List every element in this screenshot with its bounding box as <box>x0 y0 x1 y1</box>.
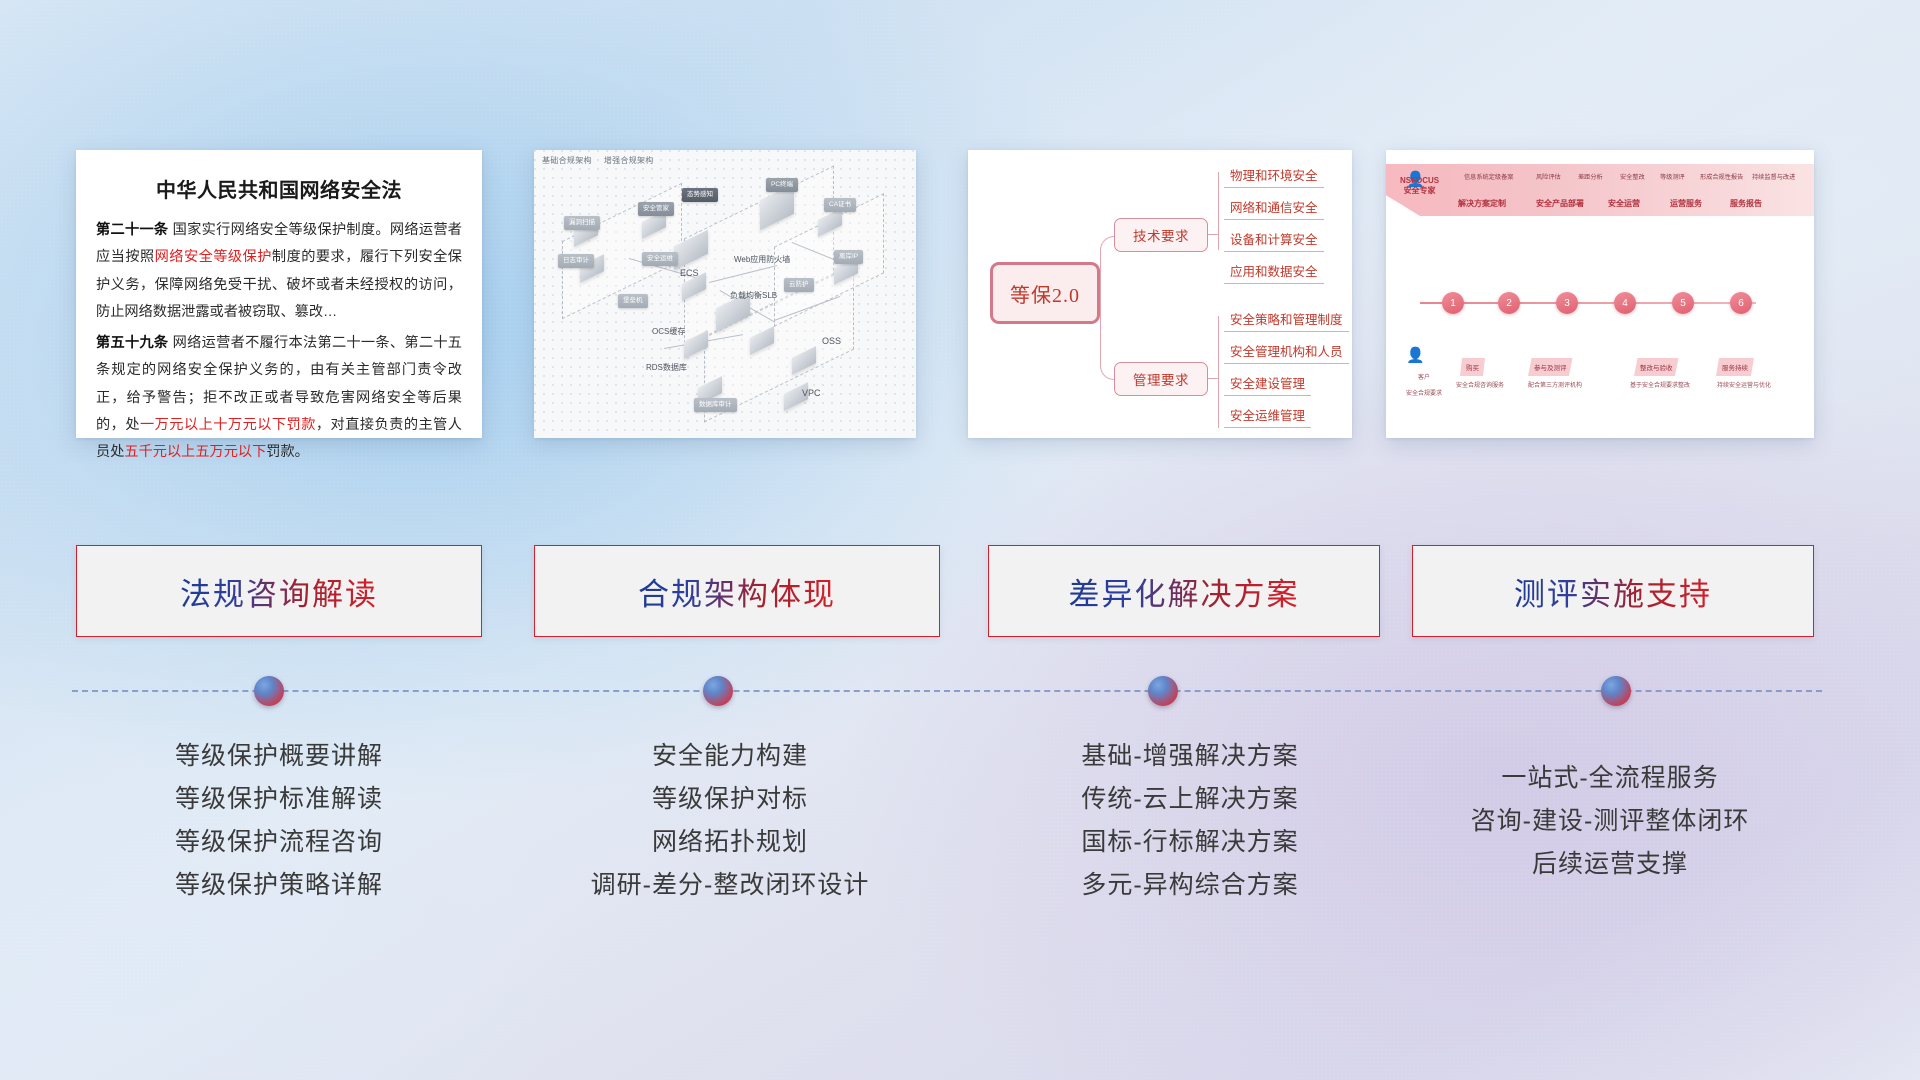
mindmap-leaf-m3: 安全建设管理 <box>1224 372 1311 396</box>
list-item: 咨询-建设-测评整体闭环 <box>1400 800 1820 843</box>
card-mindmap-dengbao[interactable]: 等保2.0 技术要求 管理要求 物理和环境安全 网络和通信安全 设备和计算安全 … <box>968 150 1352 438</box>
list-item: 国标-行标解决方案 <box>980 821 1400 864</box>
list-item: 基础-增强解决方案 <box>980 735 1400 778</box>
law-article-21: 第二十一条 国家实行网络安全等级保护制度。网络运营者应当按照网络安全等级保护制度… <box>92 217 466 326</box>
roadmap-customer-sub: 安全合规要求 <box>1388 388 1460 397</box>
list-item: 等级保护标准解读 <box>76 778 482 821</box>
list-item: 多元-异构综合方案 <box>980 864 1400 907</box>
list-item: 安全能力构建 <box>520 735 940 778</box>
law-article-21-label: 第二十一条 <box>96 222 168 238</box>
mindmap-leaf-t1: 物理和环境安全 <box>1224 164 1324 188</box>
arch-chip-17: PC终端 <box>766 178 798 192</box>
list-item: 传统-云上解决方案 <box>980 778 1400 821</box>
roadmap-top-label-1: 信息系统定级备案 <box>1464 172 1514 181</box>
roadmap-customer-label: 客户 <box>1396 372 1452 381</box>
roadmap-mid-label-5: 服务报告 <box>1730 198 1762 209</box>
mindmap-branch-management: 管理要求 <box>1114 362 1208 396</box>
timeline <box>0 660 1920 720</box>
roadmap-top-label-3: 差距分析 <box>1578 172 1603 181</box>
pillar-title-2: 合规架构体现 <box>638 569 836 614</box>
pillar-titles-row: 法规咨询解读 合规架构体现 差异化解决方案 测评实施支持 <box>0 545 1920 641</box>
card-cybersecurity-law[interactable]: 中华人民共和国网络安全法 第二十一条 国家实行网络安全等级保护制度。网络运营者应… <box>76 150 482 438</box>
arch-label-waf: Web应用防火墙 <box>734 254 790 265</box>
architecture-header-right: 增强合规架构 <box>604 156 654 165</box>
roadmap-top-label-5: 等级测评 <box>1660 172 1685 181</box>
roadmap-tag-4: 服务持续 <box>1716 358 1754 376</box>
roadmap-mid-label-1: 解决方案定制 <box>1458 198 1506 209</box>
card-nsfocus-roadmap[interactable]: 👤 NSFOCUS 安全专家 信息系统定级备案 风险评估 差距分析 安全整改 等… <box>1386 150 1814 438</box>
pillar-title-3: 差异化解决方案 <box>1069 569 1300 614</box>
mindmap-leaf-t3: 设备和计算安全 <box>1224 228 1324 252</box>
arch-label-slb: 负载均衡SLB <box>730 290 777 301</box>
law-article-59-highlight-1: 一万元以上十万元以下罚款 <box>140 417 316 433</box>
mindmap-leaf-m4: 安全运维管理 <box>1224 404 1311 428</box>
roadmap-node-2[interactable]: 2 <box>1498 292 1520 314</box>
list-item: 调研-差分-整改闭环设计 <box>520 864 940 907</box>
pillar-list-1: 等级保护概要讲解 等级保护标准解读 等级保护流程咨询 等级保护策略详解 <box>76 735 482 907</box>
arch-chip-0: 安全管家 <box>638 202 674 216</box>
roadmap-node-1[interactable]: 1 <box>1442 292 1464 314</box>
law-article-59-highlight-2: 五千元以上五万元以下 <box>124 444 266 460</box>
roadmap-top-label-4: 安全整改 <box>1620 172 1645 181</box>
pillar-title-box-3[interactable]: 差异化解决方案 <box>988 545 1380 637</box>
arch-chip-1: 态势感知 <box>682 188 718 202</box>
list-item: 网络拓扑规划 <box>520 821 940 864</box>
roadmap-mid-label-4: 运营服务 <box>1670 198 1702 209</box>
timeline-dashed-line <box>72 690 1822 692</box>
arch-chip-16: 安全运维 <box>642 252 678 266</box>
mindmap-leaf-t4: 应用和数据安全 <box>1224 260 1324 284</box>
list-item: 等级保护流程咨询 <box>76 821 482 864</box>
card-compliance-architecture[interactable]: 基础合规架构增强合规架构 <box>534 150 916 438</box>
mindmap-stub-management <box>1208 378 1218 380</box>
roadmap-tag-2: 参与及测评 <box>1528 358 1573 376</box>
roadmap-node-4[interactable]: 4 <box>1614 292 1636 314</box>
timeline-dot-4[interactable] <box>1601 676 1631 706</box>
preview-cards-row: 中华人民共和国网络安全法 第二十一条 国家实行网络安全等级保护制度。网络运营者应… <box>0 150 1920 450</box>
timeline-dot-3[interactable] <box>1148 676 1178 706</box>
arch-chip-13: 数据库审计 <box>694 398 737 412</box>
mindmap-branch-technical: 技术要求 <box>1114 218 1208 252</box>
law-article-21-highlight: 网络安全等级保护 <box>155 249 272 265</box>
list-item: 一站式-全流程服务 <box>1400 757 1820 800</box>
mindmap-leaf-m1: 安全策略和管理制度 <box>1224 308 1349 332</box>
pillar-title-box-2[interactable]: 合规架构体现 <box>534 545 940 637</box>
arch-chip-3: CA证书 <box>824 198 856 212</box>
law-title: 中华人民共和国网络安全法 <box>92 174 466 203</box>
roadmap-tag-4-sub: 持续安全运营与优化 <box>1702 380 1786 389</box>
arch-chip-15: 漏洞扫描 <box>564 216 600 230</box>
roadmap-tag-1: 购买 <box>1460 358 1485 376</box>
roadmap-node-3[interactable]: 3 <box>1556 292 1578 314</box>
roadmap-top-label-2: 风险评估 <box>1536 172 1561 181</box>
arch-chip-2: 堡垒机 <box>618 294 648 308</box>
roadmap-diagram: 👤 NSFOCUS 安全专家 信息系统定级备案 风险评估 差距分析 安全整改 等… <box>1386 150 1814 438</box>
list-item: 等级保护对标 <box>520 778 940 821</box>
architecture-header-left: 基础合规架构 <box>542 156 592 165</box>
mindmap-leaf-t2: 网络和通信安全 <box>1224 196 1324 220</box>
roadmap-brand-line2: 安全专家 <box>1400 186 1439 196</box>
architecture-header: 基础合规架构增强合规架构 <box>542 155 666 166</box>
law-article-59-text-c: 罚款。 <box>266 444 309 460</box>
arch-label-ocs: OCS缓存 <box>652 326 685 337</box>
pillar-title-box-1[interactable]: 法规咨询解读 <box>76 545 482 637</box>
roadmap-brand-line1: NSFOCUS <box>1400 176 1439 186</box>
roadmap-tag-3-sub: 基于安全合规要求整改 <box>1618 380 1702 389</box>
pillar-title-box-4[interactable]: 测评实施支持 <box>1412 545 1814 637</box>
pillar-list-4: 一站式-全流程服务 咨询-建设-测评整体闭环 后续运营支撑 <box>1400 757 1820 886</box>
customer-avatar-icon: 👤 <box>1406 346 1425 364</box>
roadmap-tag-1-sub: 安全合规咨询服务 <box>1448 380 1512 389</box>
mindmap-diagram: 等保2.0 技术要求 管理要求 物理和环境安全 网络和通信安全 设备和计算安全 … <box>968 150 1352 438</box>
timeline-dot-2[interactable] <box>703 676 733 706</box>
roadmap-node-6[interactable]: 6 <box>1730 292 1752 314</box>
list-item: 后续运营支撑 <box>1400 843 1820 886</box>
roadmap-mid-label-2: 安全产品部署 <box>1536 198 1584 209</box>
law-article-59: 第五十九条 网络运营者不履行本法第二十一条、第二十五条规定的网络安全保护义务的，… <box>92 330 466 466</box>
list-item: 等级保护策略详解 <box>76 864 482 907</box>
roadmap-top-label-7: 持续监督与改进 <box>1752 172 1795 181</box>
roadmap-node-5[interactable]: 5 <box>1672 292 1694 314</box>
law-article-59-label: 第五十九条 <box>96 335 168 351</box>
arch-label-oss: OSS <box>822 336 841 346</box>
arch-chip-4: 离岸IP <box>834 250 863 264</box>
mindmap-spine-technical <box>1218 172 1219 250</box>
mindmap-core-node: 等保2.0 <box>990 262 1100 324</box>
pillar-list-3: 基础-增强解决方案 传统-云上解决方案 国标-行标解决方案 多元-异构综合方案 <box>980 735 1400 907</box>
pillar-list-2: 安全能力构建 等级保护对标 网络拓扑规划 调研-差分-整改闭环设计 <box>520 735 940 907</box>
roadmap-top-label-6: 形成合规性报告 <box>1700 172 1743 181</box>
arch-chip-7: 云防护 <box>784 278 814 292</box>
mindmap-leaf-m2: 安全管理机构和人员 <box>1224 340 1349 364</box>
arch-label-ecs: ECS <box>680 268 699 278</box>
pillar-title-1: 法规咨询解读 <box>180 569 378 614</box>
arch-chip-14: 日志审计 <box>558 254 594 268</box>
roadmap-axis <box>1420 302 1756 304</box>
roadmap-mid-label-3: 安全运营 <box>1608 198 1640 209</box>
mindmap-stub-technical <box>1208 234 1218 236</box>
pillar-title-4: 测评实施支持 <box>1514 569 1712 614</box>
list-item: 等级保护概要讲解 <box>76 735 482 778</box>
roadmap-tag-3: 整改与验收 <box>1634 358 1679 376</box>
arch-label-vpc: VPC <box>802 388 821 398</box>
roadmap-tag-2-sub: 配合第三方测评机构 <box>1518 380 1592 389</box>
arch-label-rds: RDS数据库 <box>646 362 687 373</box>
roadmap-brand: NSFOCUS 安全专家 <box>1400 176 1439 196</box>
timeline-dot-1[interactable] <box>254 676 284 706</box>
mindmap-spine-management <box>1218 316 1219 428</box>
architecture-diagram: 基础合规架构增强合规架构 <box>534 150 916 438</box>
